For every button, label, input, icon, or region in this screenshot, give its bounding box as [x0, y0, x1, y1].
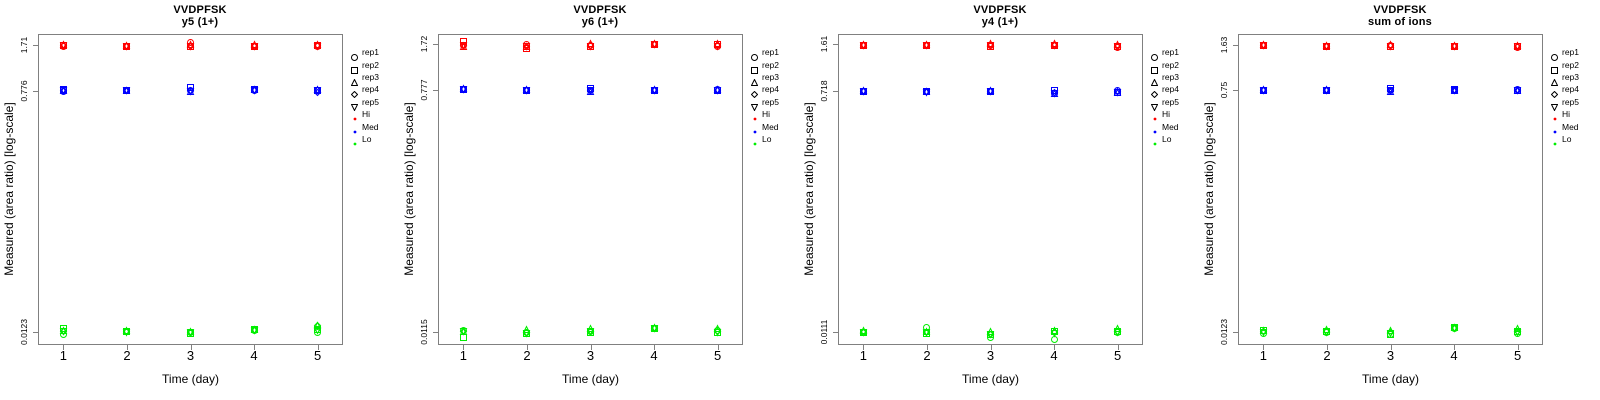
legend-item: rep4 — [349, 83, 399, 95]
y-tick-label: 0.718 — [818, 71, 830, 111]
panel-title: VVDPFSKy5 (1+) — [0, 4, 400, 28]
x-tick-label: 4 — [1039, 348, 1069, 363]
x-tick-label: 2 — [512, 348, 542, 363]
panel-title: VVDPFSKsum of ions — [1200, 4, 1600, 28]
legend-label: rep2 — [1162, 59, 1179, 71]
legend-label: rep1 — [1562, 46, 1579, 58]
y-axis-label: Measured (area ratio) [log-scale] — [1202, 0, 1218, 379]
legend-label: rep2 — [362, 59, 379, 71]
plot-area — [38, 34, 343, 345]
panel-title-peptide: VVDPFSK — [573, 4, 626, 16]
x-tick-label: 5 — [703, 348, 733, 363]
legend-item: rep4 — [1149, 83, 1199, 95]
legend-item: rep1 — [1549, 46, 1599, 58]
x-tick-label: 5 — [303, 348, 333, 363]
x-tick-label: 1 — [48, 348, 78, 363]
x-tick-label: 3 — [576, 348, 606, 363]
panel-title-fragment: y5 (1+) — [0, 16, 400, 28]
x-tick-label: 4 — [1439, 348, 1469, 363]
x-tick-label: 4 — [239, 348, 269, 363]
legend-label: rep1 — [362, 46, 379, 58]
y-tick-label: 1.72 — [418, 24, 430, 64]
legend-item: rep5 — [749, 96, 799, 108]
legend: rep1rep2rep3rep4rep5HiMedLo — [749, 46, 799, 145]
y-tick-mark — [833, 91, 838, 92]
legend-item: Med — [1549, 120, 1599, 132]
legend-item: Med — [1149, 120, 1199, 132]
legend-label: rep4 — [362, 83, 379, 95]
legend-dot-icon — [349, 133, 361, 145]
legend-label: rep4 — [1562, 83, 1579, 95]
y-axis-label: Measured (area ratio) [log-scale] — [402, 0, 418, 379]
legend-square-open-icon — [1549, 59, 1561, 71]
plot-area — [438, 34, 743, 345]
legend-dot-icon — [749, 108, 761, 120]
legend-dot-icon — [1549, 133, 1561, 145]
x-tick-label: 4 — [639, 348, 669, 363]
y-tick-label: 0.776 — [18, 71, 30, 111]
legend-item: Lo — [749, 133, 799, 145]
panel-title-peptide: VVDPFSK — [173, 4, 226, 16]
y-tick-label: 0.0123 — [1218, 312, 1230, 352]
legend-dot-icon — [1149, 108, 1161, 120]
legend-item: rep5 — [1149, 96, 1199, 108]
legend-label: Hi — [1562, 108, 1570, 120]
chart-panel: VVDPFSKy5 (1+)Measured (area ratio) [log… — [0, 0, 400, 400]
legend-item: Hi — [1549, 108, 1599, 120]
x-tick-label: 3 — [176, 348, 206, 363]
x-tick-label: 5 — [1503, 348, 1533, 363]
x-tick-label: 5 — [1103, 348, 1133, 363]
legend-label: rep3 — [1162, 71, 1179, 83]
legend-dot-icon — [1149, 133, 1161, 145]
y-tick-label: 1.71 — [18, 25, 30, 65]
legend-label: rep5 — [762, 96, 779, 108]
x-tick-label: 1 — [848, 348, 878, 363]
legend-label: Hi — [1162, 108, 1170, 120]
legend-diamond-open-icon — [1549, 83, 1561, 95]
legend-item: Hi — [749, 108, 799, 120]
legend-label: rep1 — [762, 46, 779, 58]
legend-square-open-icon — [1149, 59, 1161, 71]
y-axis-label: Measured (area ratio) [log-scale] — [2, 0, 18, 379]
plot-area — [1238, 34, 1543, 345]
panel-title-fragment: sum of ions — [1200, 16, 1600, 28]
legend-item: rep3 — [749, 71, 799, 83]
legend-item: Hi — [349, 108, 399, 120]
legend-item: rep2 — [349, 58, 399, 70]
legend-item: rep3 — [1549, 71, 1599, 83]
legend-square-open-icon — [349, 59, 361, 71]
legend-item: rep4 — [1549, 83, 1599, 95]
legend-item: rep5 — [349, 96, 399, 108]
y-tick-label: 0.0115 — [418, 312, 430, 352]
y-tick-mark — [33, 45, 38, 46]
panel-title-fragment: y6 (1+) — [400, 16, 800, 28]
legend-label: Lo — [1562, 133, 1571, 145]
legend-label: Med — [362, 121, 379, 133]
panel-title-peptide: VVDPFSK — [1373, 4, 1426, 16]
legend-triangle-down-open-icon — [749, 96, 761, 108]
legend-label: rep5 — [1562, 96, 1579, 108]
y-tick-label: 0.777 — [418, 70, 430, 110]
x-tick-label: 3 — [976, 348, 1006, 363]
legend-label: rep3 — [362, 71, 379, 83]
x-axis-label: Time (day) — [38, 372, 343, 386]
y-tick-mark — [1233, 45, 1238, 46]
x-tick-label: 2 — [1312, 348, 1342, 363]
legend-label: rep2 — [762, 59, 779, 71]
plot-area — [838, 34, 1143, 345]
legend-triangle-down-open-icon — [349, 96, 361, 108]
legend-label: Lo — [762, 133, 771, 145]
y-tick-mark — [833, 332, 838, 333]
y-tick-mark — [433, 44, 438, 45]
x-tick-label: 2 — [912, 348, 942, 363]
legend-item: Hi — [1149, 108, 1199, 120]
legend-circle-open-icon — [1149, 46, 1161, 58]
legend-item: rep1 — [349, 46, 399, 58]
legend-label: Med — [762, 121, 779, 133]
figure-panel-grid: VVDPFSKy5 (1+)Measured (area ratio) [log… — [0, 0, 1600, 400]
legend-square-open-icon — [749, 59, 761, 71]
legend-item: rep2 — [1549, 58, 1599, 70]
legend-item: rep1 — [749, 46, 799, 58]
y-tick-mark — [833, 44, 838, 45]
legend-dot-icon — [1549, 121, 1561, 133]
y-tick-label: 1.61 — [818, 24, 830, 64]
x-tick-label: 1 — [1248, 348, 1278, 363]
x-axis-label: Time (day) — [838, 372, 1143, 386]
legend-label: rep4 — [762, 83, 779, 95]
panel-title-fragment: y4 (1+) — [800, 16, 1200, 28]
legend-circle-open-icon — [349, 46, 361, 58]
legend-triangle-up-open-icon — [749, 71, 761, 83]
legend-dot-icon — [1149, 121, 1161, 133]
chart-panel: VVDPFSKy6 (1+)Measured (area ratio) [log… — [400, 0, 800, 400]
legend-item: Lo — [1549, 133, 1599, 145]
y-tick-label: 1.63 — [1218, 25, 1230, 65]
legend-item: rep1 — [1149, 46, 1199, 58]
legend-label: Hi — [762, 108, 770, 120]
y-tick-mark — [33, 332, 38, 333]
legend-label: Lo — [362, 133, 371, 145]
legend-label: Hi — [362, 108, 370, 120]
legend-label: rep5 — [1162, 96, 1179, 108]
chart-panel: VVDPFSKsum of ionsMeasured (area ratio) … — [1200, 0, 1600, 400]
x-axis-label: Time (day) — [1238, 372, 1543, 386]
x-tick-label: 1 — [448, 348, 478, 363]
legend-triangle-up-open-icon — [1149, 71, 1161, 83]
legend-dot-icon — [749, 133, 761, 145]
y-tick-label: 0.0123 — [18, 312, 30, 352]
panel-title: VVDPFSKy6 (1+) — [400, 4, 800, 28]
y-tick-label: 0.75 — [1218, 70, 1230, 110]
y-tick-mark — [433, 90, 438, 91]
legend-circle-open-icon — [1549, 46, 1561, 58]
legend-diamond-open-icon — [749, 83, 761, 95]
legend-item: Med — [749, 120, 799, 132]
legend-triangle-up-open-icon — [349, 71, 361, 83]
y-tick-label: 0.0111 — [818, 312, 830, 352]
legend-label: rep4 — [1162, 83, 1179, 95]
legend-item: rep2 — [1149, 58, 1199, 70]
legend: rep1rep2rep3rep4rep5HiMedLo — [1149, 46, 1199, 145]
legend-label: Med — [1162, 121, 1179, 133]
legend-label: Lo — [1162, 133, 1171, 145]
y-axis-label: Measured (area ratio) [log-scale] — [802, 0, 818, 379]
legend-dot-icon — [349, 121, 361, 133]
legend-item: Med — [349, 120, 399, 132]
legend-label: rep3 — [1562, 71, 1579, 83]
legend-label: rep2 — [1562, 59, 1579, 71]
legend-item: rep3 — [349, 71, 399, 83]
legend-triangle-down-open-icon — [1149, 96, 1161, 108]
legend-label: Med — [1562, 121, 1579, 133]
legend-label: rep1 — [1162, 46, 1179, 58]
legend: rep1rep2rep3rep4rep5HiMedLo — [349, 46, 399, 145]
legend-dot-icon — [1549, 108, 1561, 120]
legend-item: rep2 — [749, 58, 799, 70]
legend-diamond-open-icon — [349, 83, 361, 95]
chart-panel: VVDPFSKy4 (1+)Measured (area ratio) [log… — [800, 0, 1200, 400]
legend-item: Lo — [1149, 133, 1199, 145]
legend-diamond-open-icon — [1149, 83, 1161, 95]
y-tick-mark — [1233, 332, 1238, 333]
legend: rep1rep2rep3rep4rep5HiMedLo — [1549, 46, 1599, 145]
x-axis-label: Time (day) — [438, 372, 743, 386]
legend-dot-icon — [749, 121, 761, 133]
legend-label: rep5 — [362, 96, 379, 108]
panel-title: VVDPFSKy4 (1+) — [800, 4, 1200, 28]
legend-item: Lo — [349, 133, 399, 145]
y-tick-mark — [33, 91, 38, 92]
y-tick-mark — [433, 332, 438, 333]
legend-triangle-up-open-icon — [1549, 71, 1561, 83]
legend-item: rep3 — [1149, 71, 1199, 83]
x-tick-label: 2 — [112, 348, 142, 363]
y-tick-mark — [1233, 90, 1238, 91]
legend-circle-open-icon — [749, 46, 761, 58]
legend-triangle-down-open-icon — [1549, 96, 1561, 108]
legend-dot-icon — [349, 108, 361, 120]
panel-title-peptide: VVDPFSK — [973, 4, 1026, 16]
legend-item: rep5 — [1549, 96, 1599, 108]
x-tick-label: 3 — [1376, 348, 1406, 363]
legend-label: rep3 — [762, 71, 779, 83]
legend-item: rep4 — [749, 83, 799, 95]
